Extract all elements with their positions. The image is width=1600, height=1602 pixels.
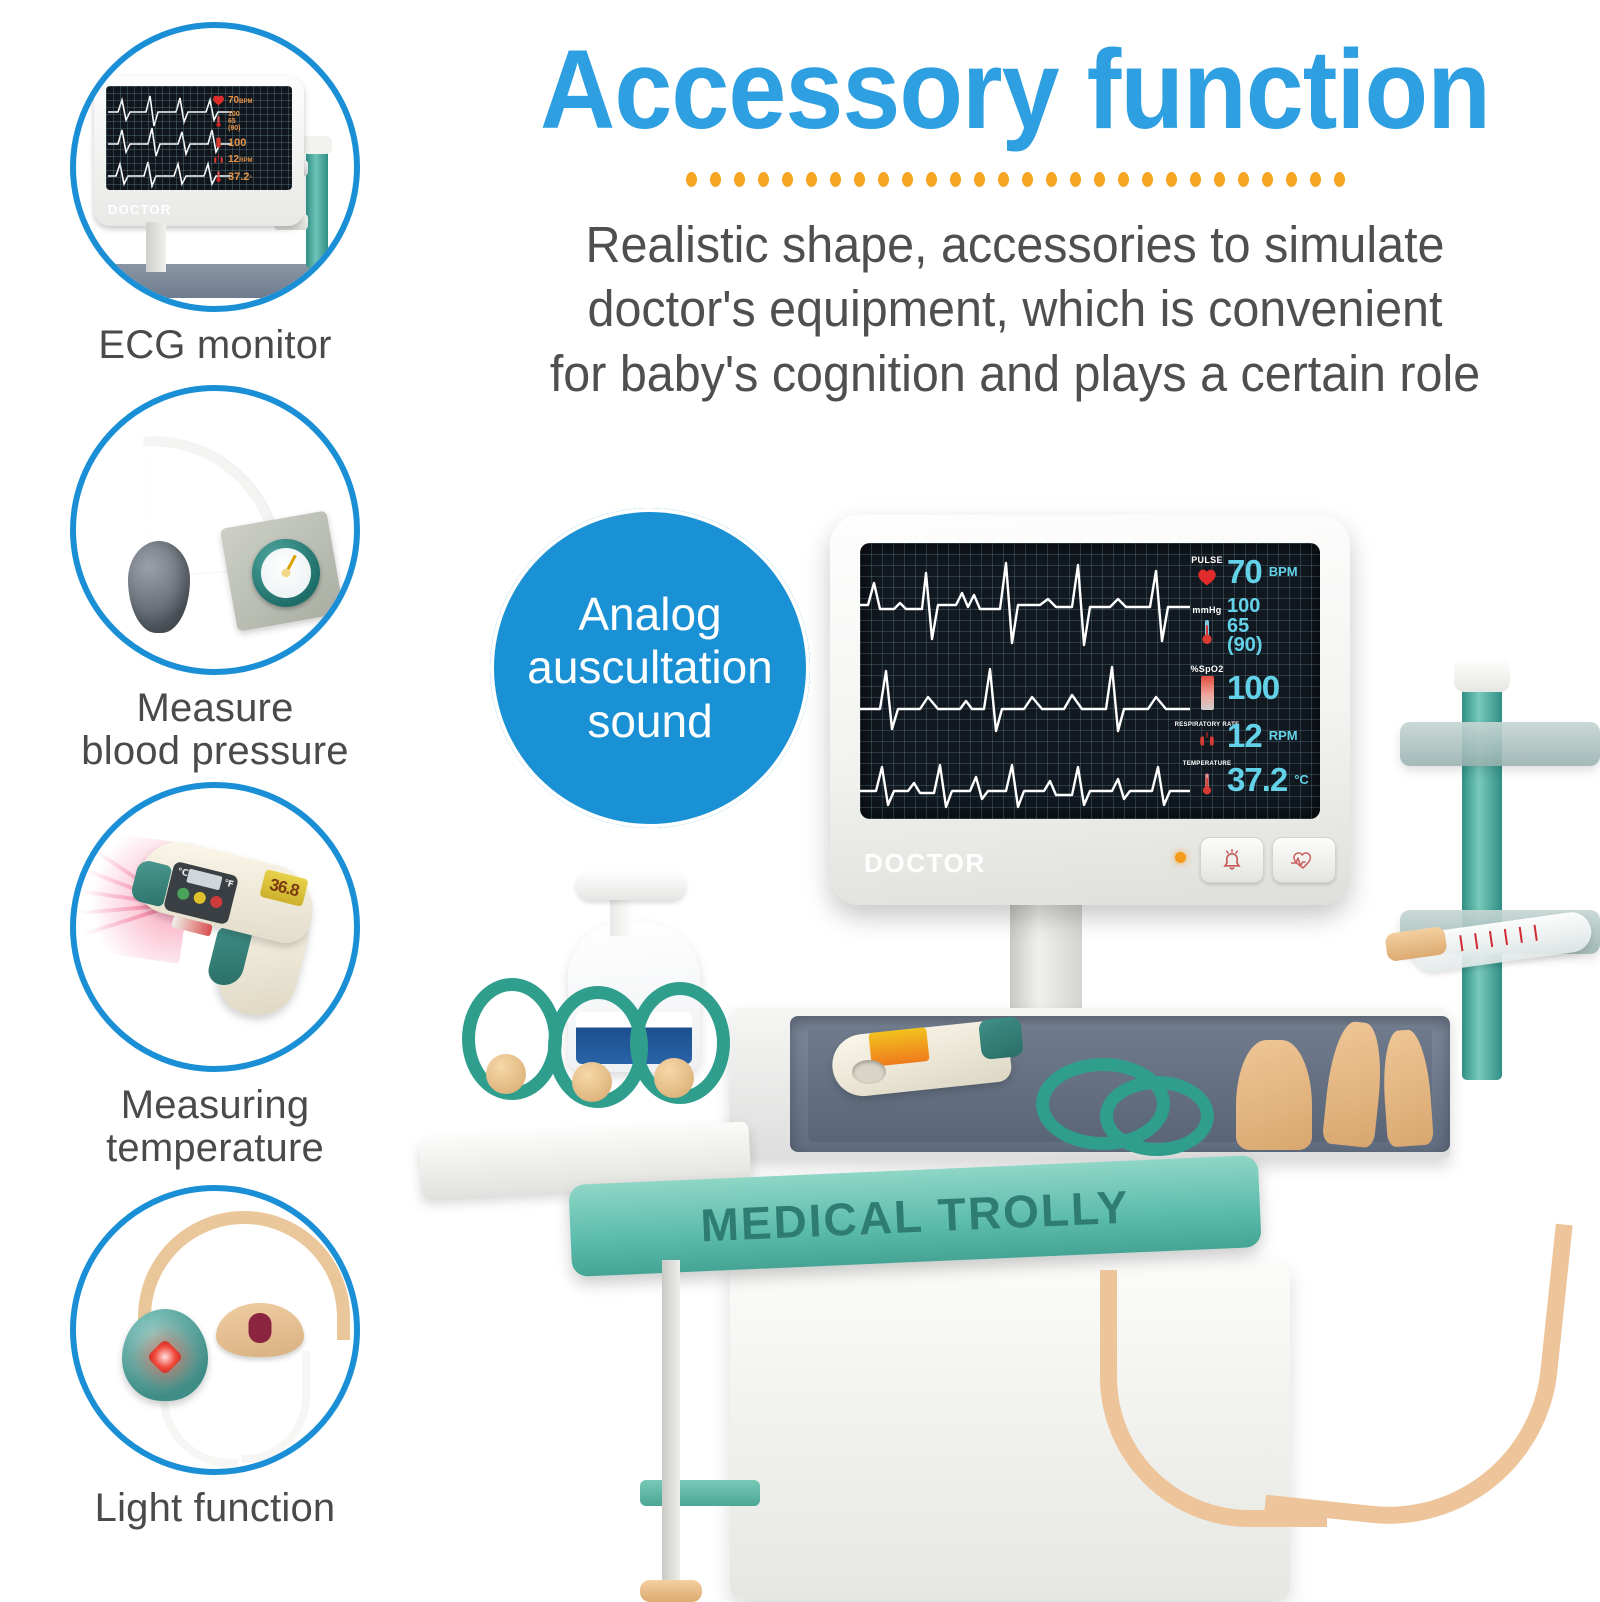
monitor-brand: DOCTOR: [864, 848, 986, 879]
thermometer-icon: [1199, 617, 1215, 647]
spo2-bar-icon: [212, 136, 225, 149]
cart-drawer-handle[interactable]: [640, 1480, 760, 1506]
heart-icon: [1195, 567, 1219, 588]
ecg-monitor: PULSE 70 BPM mmHg 100 65: [830, 515, 1350, 905]
vital-tag-temp: TEMPERATURE: [1183, 761, 1232, 767]
vital-unit-pulse: BPM: [1269, 564, 1298, 579]
monitor-stand: [1010, 900, 1082, 1018]
led-indicator: [147, 1338, 184, 1375]
feature-ring: ℃ ℉ 36.8: [70, 782, 360, 1072]
mini-tray: [86, 264, 356, 298]
mini-pole-cap: [302, 136, 332, 154]
feature-ecg-monitor: 70BPM 10065(90) 100: [0, 22, 430, 367]
bp-bulb: [128, 541, 190, 633]
feature-ring: 70BPM 10065(90) 100: [70, 22, 360, 312]
page-subtitle: Realistic shape, accessories to simulate…: [469, 213, 1562, 406]
infrared-thermometer-icon: ℃ ℉ 36.8: [76, 788, 354, 1066]
mini-vitals: 70BPM 10065(90) 100: [212, 94, 286, 187]
page-title: Accessory function: [480, 34, 1550, 146]
mini-vital-temp: 37.2°: [212, 170, 286, 183]
stethoscope-bell: [122, 1309, 208, 1401]
heart-waveform-icon: [1289, 847, 1319, 873]
feature-circle: 70BPM 10065(90) 100: [70, 22, 360, 312]
product-photo: PULSE 70 BPM mmHg 100 65: [400, 430, 1600, 1600]
mini-vital-resp: 12RPM: [212, 153, 286, 166]
thermometer-icon: [212, 115, 225, 128]
iv-pole-cap: [1454, 658, 1510, 692]
feature-list: 70BPM 10065(90) 100: [0, 0, 430, 1600]
vital-tag-spo2: %SpO2: [1191, 665, 1224, 674]
mini-screen: 70BPM 10065(90) 100: [106, 86, 292, 190]
soap-pump-head: [576, 870, 686, 900]
vital-value-pulse: 70: [1227, 555, 1262, 588]
mini-pole: [306, 148, 328, 268]
scissors-hub: [572, 1062, 612, 1102]
fahrenheit-label: ℉: [223, 877, 235, 890]
bp-gauge: [252, 539, 320, 607]
feature-circle: [70, 1185, 360, 1475]
connector-slot: [249, 1313, 272, 1343]
vital-value-spo2: 100: [1227, 671, 1279, 704]
stethoscope-cord: [242, 1351, 310, 1463]
heart-icon: [212, 94, 225, 107]
mini-vital-pulse: 70BPM: [212, 94, 286, 107]
lungs-icon: [1195, 730, 1219, 748]
vital-value-bp: 100 65 (90): [1227, 597, 1263, 656]
vital-spo2: %SpO2 100: [1194, 665, 1312, 710]
ecg-button[interactable]: [1272, 837, 1336, 883]
vital-value-resp: 12: [1227, 719, 1262, 752]
scissors-hub: [486, 1054, 526, 1094]
vital-temperature: TEMPERATURE 37.2 °C: [1194, 761, 1312, 799]
vital-respiratory: RESPIRATORY RATE 12 RPM: [1194, 719, 1312, 752]
spatula: [1236, 1040, 1312, 1150]
feature-label-ecg-monitor: ECG monitor: [0, 324, 430, 367]
feature-ring: [70, 385, 360, 675]
ir-button-red[interactable]: [209, 895, 224, 910]
cart-leg: [662, 1260, 680, 1590]
ir-button-yellow[interactable]: [193, 891, 208, 906]
vital-value-temp: 37.2: [1227, 763, 1287, 796]
gauge-hub: [282, 569, 291, 578]
cart-handle-label: MEDICAL TROLLY: [699, 1180, 1130, 1253]
feature-blood-pressure: Measure blood pressure: [0, 385, 430, 773]
ecg-waveform: [860, 543, 1190, 819]
alarm-button[interactable]: [1200, 837, 1264, 883]
vital-blood-pressure: mmHg 100 65 (90): [1194, 597, 1312, 656]
alarm-bell-icon: [1218, 846, 1246, 874]
feature-label-blood-pressure: Measure blood pressure: [0, 687, 430, 773]
thermometer-tip: [978, 1016, 1024, 1060]
tongs: [1100, 1076, 1214, 1156]
divider-dots: [440, 172, 1590, 187]
mini-monitor-brand: DOCTOR: [108, 202, 171, 217]
power-led: [1175, 852, 1186, 863]
blood-pressure-cuff-icon: [76, 391, 354, 669]
thermometer-icon: [212, 170, 225, 183]
feature-light-function: Light function: [0, 1185, 430, 1530]
vital-tag-pulse: PULSE: [1191, 556, 1223, 565]
vital-unit-temp: °C: [1294, 772, 1309, 787]
product-feature-page: 70BPM 10065(90) 100: [0, 0, 1600, 1600]
feature-circle: [70, 385, 360, 675]
lungs-icon: [212, 153, 225, 166]
feature-label-temperature: Measuring temperature: [0, 1084, 430, 1170]
mini-monitor: 70BPM 10065(90) 100: [94, 76, 304, 226]
feature-ring: [70, 1185, 360, 1475]
thermometer-hole: [852, 1060, 886, 1084]
ir-mode-lcd: [186, 869, 222, 891]
glass-shelf: [1400, 722, 1600, 766]
stethoscope-icon: [76, 1191, 354, 1469]
scissors-hub: [654, 1058, 694, 1098]
ecg-monitor-icon: 70BPM 10065(90) 100: [76, 28, 354, 306]
spo2-bar-icon: [1201, 676, 1214, 710]
feature-label-light-function: Light function: [0, 1487, 430, 1530]
header: Accessory function Realistic shape, acce…: [440, 34, 1590, 406]
thermometer-icon: [1200, 769, 1214, 799]
feature-temperature: ℃ ℉ 36.8 Mea: [0, 782, 430, 1170]
monitor-screen: PULSE 70 BPM mmHg 100 65: [860, 543, 1320, 819]
vital-tag-mmhg: mmHg: [1192, 606, 1221, 615]
vital-pulse: PULSE 70 BPM: [1194, 555, 1312, 588]
feature-circle: ℃ ℉ 36.8: [70, 782, 360, 1072]
cart-foot: [640, 1580, 702, 1602]
vital-unit-resp: RPM: [1269, 728, 1298, 743]
vitals-panel: PULSE 70 BPM mmHg 100 65: [1194, 555, 1312, 808]
mini-vital-bp: 10065(90): [212, 111, 286, 132]
ir-button-green[interactable]: [176, 886, 191, 901]
mini-vital-spo2: 100: [212, 136, 286, 149]
mini-monitor-stand: [146, 222, 166, 272]
